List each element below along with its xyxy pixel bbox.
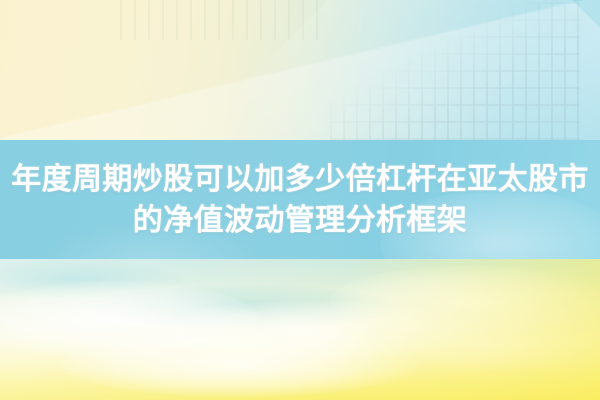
bottom-background-region <box>0 259 600 400</box>
title-band: 年度周期炒股可以加多少倍杠杆在亚太股市的净值波动管理分析框架 <box>0 140 600 259</box>
ghost-table-texture-secondary <box>120 0 320 40</box>
ghost-table-texture <box>330 2 580 140</box>
top-background-region <box>0 0 600 142</box>
page-title: 年度周期炒股可以加多少倍杠杆在亚太股市的净值波动管理分析框架 <box>4 159 596 241</box>
yellow-gradient-overlay <box>0 259 600 400</box>
banner-canvas: 年度周期炒股可以加多少倍杠杆在亚太股市的净值波动管理分析框架 <box>0 0 600 400</box>
